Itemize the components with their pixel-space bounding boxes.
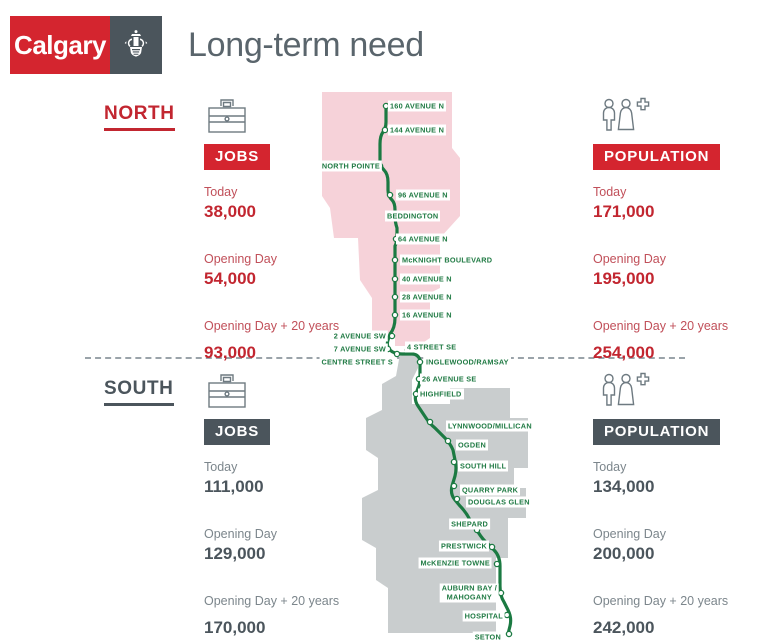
logo-wordmark-block: Calgary	[10, 16, 110, 74]
stat-label: Opening Day + 20 years	[593, 318, 768, 334]
stat-label: Today	[593, 184, 768, 200]
station-label: McKNIGHT BOULEVARD	[400, 255, 494, 266]
station-label: OGDEN	[456, 440, 488, 451]
station-label: CENTRE STREET S	[320, 357, 395, 368]
station-label: 40 AVENUE N	[400, 274, 454, 285]
station-label: 26 AVENUE SE	[420, 374, 479, 385]
station-label: 160 AVENUE N	[388, 101, 446, 112]
south-population-badge: POPULATION	[593, 419, 720, 445]
station-label: 144 AVENUE N	[388, 125, 446, 136]
region-label-south: SOUTH	[104, 378, 174, 406]
south-jobs-badge: JOBS	[204, 419, 270, 445]
region-label-north: NORTH	[104, 103, 175, 131]
south-population-column: POPULATION Today 134,000 Opening Day 200…	[593, 371, 768, 639]
logo-wordmark: Calgary	[14, 30, 106, 61]
station-label: INGLEWOOD/RAMSAY	[424, 357, 511, 368]
station-label: SOUTH HILL	[458, 461, 508, 472]
station-label: 96 AVENUE N	[396, 190, 450, 201]
station-label: DOUGLAS GLEN	[466, 497, 532, 508]
page-title: Long-term need	[188, 26, 424, 65]
stat-value: 254,000	[593, 342, 768, 364]
station-label: LYNNWOOD/MILLICAN	[446, 421, 534, 432]
station-label: 28 AVENUE N	[400, 292, 454, 303]
station-label: QUARRY PARK	[460, 485, 520, 496]
green-line-map: 160 AVENUE N144 AVENUE NNORTH POINTE96 A…	[300, 88, 570, 638]
station-label: McKENZIE TOWNE	[419, 558, 492, 569]
north-population-stat-today: Today 171,000	[593, 184, 768, 223]
station-label: AUBURN BAY /MAHOGANY	[440, 584, 499, 603]
station-label: NORTH POINTE	[320, 161, 382, 172]
station-label: 2 AVENUE SW	[332, 331, 388, 342]
station-label: HIGHFIELD	[418, 389, 464, 400]
south-population-stat-opening-day: Opening Day 200,000	[593, 526, 768, 565]
stat-label: Opening Day	[593, 526, 768, 542]
stat-value: 200,000	[593, 543, 768, 565]
station-label: 4 STREET SE	[405, 342, 458, 353]
logo-crest-block	[110, 16, 162, 74]
north-population-badge: POPULATION	[593, 144, 720, 170]
people-plus-icon	[593, 96, 768, 144]
north-population-stat-opening-day-20: Opening Day + 20 years 254,000	[593, 318, 768, 364]
people-plus-icon	[593, 371, 768, 419]
station-label: 16 AVENUE N	[400, 310, 454, 321]
stat-value: 195,000	[593, 268, 768, 290]
stat-value: 134,000	[593, 476, 768, 498]
station-label: 7 AVENUE SW	[332, 344, 388, 355]
calgary-logo: Calgary	[10, 16, 162, 74]
station-label: BEDDINGTON	[385, 211, 440, 222]
south-population-stat-today: Today 134,000	[593, 459, 768, 498]
stat-label: Today	[593, 459, 768, 475]
station-label: PRESTWICK	[439, 541, 489, 552]
stat-value: 242,000	[593, 617, 768, 639]
infographic-root: Calgary Long-term need NORTH	[0, 0, 768, 638]
north-jobs-badge: JOBS	[204, 144, 270, 170]
station-label: SETON	[473, 632, 503, 643]
north-population-column: POPULATION Today 171,000 Opening Day 195…	[593, 96, 768, 364]
stat-label: Opening Day	[593, 251, 768, 267]
stat-label: Opening Day + 20 years	[593, 593, 768, 609]
station-label: HOSPITAL	[463, 611, 505, 622]
north-population-stat-opening-day: Opening Day 195,000	[593, 251, 768, 290]
south-population-stat-opening-day-20: Opening Day + 20 years 242,000	[593, 593, 768, 639]
station-label: 64 AVENUE N	[396, 234, 450, 245]
station-label: SHEPARD	[449, 519, 490, 530]
stat-value: 171,000	[593, 201, 768, 223]
calgary-coat-of-arms-icon	[121, 28, 151, 62]
